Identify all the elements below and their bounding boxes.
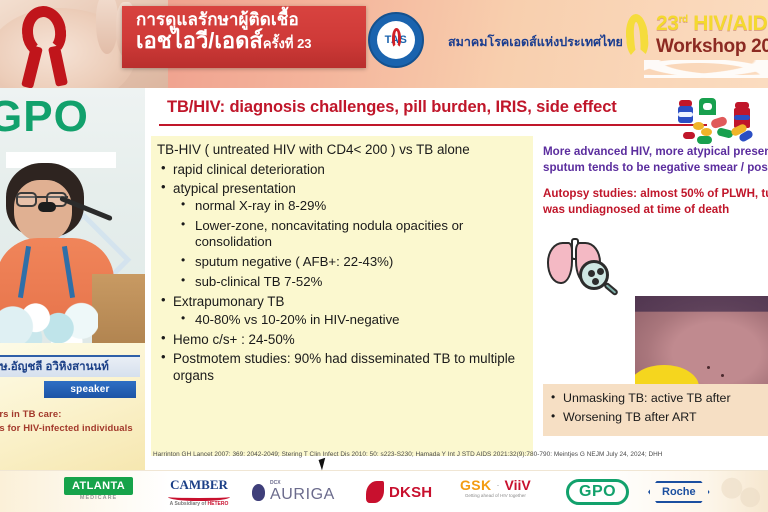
viiv-name: ViiV — [505, 477, 531, 493]
sponsor-logo-atlanta: ATLANTA MEDICARE — [64, 477, 133, 507]
workshop-logo: 23rd HIV/AIDS Workshop 202 — [616, 4, 768, 80]
conference-header-banner: การดูแลรักษาผู้ติดเชื้อ เอชไอวี/เอดส์ครั… — [0, 0, 768, 88]
dksh-mark-icon — [366, 481, 384, 503]
sub-bullet-item: 40-80% vs 10-20% in HIV-negative — [173, 312, 525, 329]
association-name: สมาคมโรคเอดส์แห่งประเทศไทย — [448, 32, 623, 52]
auriga-mark-icon — [252, 484, 265, 501]
thai-title-edition: ครั้งที่ 23 — [263, 36, 312, 51]
bullet-text: Extrapumonary TB — [173, 293, 525, 310]
sub-bullet-item: sputum negative ( AFB+: 22-43%) — [173, 254, 525, 271]
sponsor-logo-gpo: GPO — [566, 477, 629, 507]
bullet-text: Postmotem studies: 90% had disseminated … — [173, 350, 525, 385]
gsk-name: GSK — [460, 477, 492, 493]
thai-title-line2: เอชไอวี/เอดส์ครั้งที่ 23 — [122, 29, 366, 54]
yellow-ribbon-icon — [624, 13, 649, 58]
citation-references: Harrinton GH Lancet 2007: 369: 2042-2049… — [153, 451, 768, 458]
camber-name: CAMBER — [170, 477, 228, 493]
slide-screenshot: การดูแลรักษาผู้ติดเชื้อ เอชไอวี/เอดส์ครั… — [0, 0, 768, 512]
speaker-role-label: speaker — [70, 384, 109, 395]
speaker-panel: GPO ษ.อัญชลี อวิหิงสานนท์ speaker ers in — [0, 88, 145, 470]
sponsor-logo-dksh: DKSH — [366, 477, 432, 507]
bullet-item: atypical presentationnormal X-ray in 8-2… — [157, 180, 525, 291]
speaker-name: ษ.อัญชลี อวิหิงสานนท์ — [0, 358, 109, 376]
speaker-caption-area: ษ.อัญชลี อวิหิงสานนท์ speaker ers in TB … — [0, 343, 145, 470]
flower-arrangement — [0, 298, 98, 348]
camber-sub: A Subsidiary of HETERO — [170, 501, 229, 507]
title-underline — [159, 124, 707, 126]
bullet-item: Extrapumonary TB40-80% vs 10-20% in HIV-… — [157, 293, 525, 328]
presentation-slide: TB/HIV: diagnosis challenges, pill burde… — [145, 88, 768, 470]
workshop-title-line1: 23rd HIV/AIDS — [656, 12, 768, 36]
iris-box: Unmasking TB: active TB afterWorsening T… — [543, 384, 768, 436]
bullet-item: Hemo c/s+ : 24-50% — [157, 331, 525, 348]
camber-swoosh — [168, 493, 230, 501]
clinical-photo — [635, 296, 768, 391]
bullet-text: atypical presentation — [173, 180, 525, 197]
speaker-caption-line2: es for HIV-infected individuals — [0, 423, 133, 434]
magnifier-handle — [603, 282, 619, 297]
sub-bullet-item: Lower-zone, noncavitating nodula opaciti… — [173, 218, 525, 251]
atlanta-sub: MEDICARE — [80, 495, 117, 501]
thai-title-line1: การดูแลรักษาผู้ติดเชื้อ — [122, 6, 366, 29]
bullet-list-level1: rapid clinical deteriorationatypical pre… — [157, 161, 525, 384]
gpo-backdrop-logo: GPO — [0, 92, 108, 156]
footer-watermark — [718, 473, 764, 511]
note-advanced-hiv: More advanced HIV, more atypical presen … — [543, 144, 768, 176]
podium — [92, 274, 145, 348]
sub-bullet-item: sub-clinical TB 7-52% — [173, 274, 525, 291]
bullet-list-level2: normal X-ray in 8-29%Lower-zone, noncavi… — [173, 198, 525, 290]
iris-bullet-item: Worsening TB after ART — [549, 408, 768, 427]
speaker-caption-line1: ers in TB care: — [0, 409, 62, 420]
atlanta-name: ATLANTA — [64, 477, 133, 495]
pills-illustration — [673, 96, 768, 144]
workshop-title-line2: Workshop 202 — [656, 36, 768, 58]
tas-logo: TAS — [368, 12, 424, 68]
sponsor-logo-camber: CAMBER A Subsidiary of HETERO — [168, 477, 230, 507]
roche-name: Roche — [648, 481, 710, 503]
gpo-name: GPO — [566, 479, 629, 505]
sponsor-footer: ATLANTA MEDICARE CAMBER A Subsidiary of … — [0, 470, 768, 512]
bullet-text: rapid clinical deterioration — [173, 161, 525, 178]
note-autopsy-studies: Autopsy studies: almost 50% of PLWH, tu … — [543, 186, 768, 218]
main-content-box: TB-HIV ( untreated HIV with CD4< 200 ) v… — [151, 136, 533, 456]
lungs-magnifier-illustration — [545, 238, 635, 302]
content-lead: TB-HIV ( untreated HIV with CD4< 200 ) v… — [157, 142, 525, 158]
gsk-tagline: Getting ahead of HIV together — [465, 493, 526, 498]
tas-ribbon-icon — [392, 28, 401, 48]
sponsor-logo-auriga: DCX AURIGA — [252, 477, 335, 507]
sponsor-logo-roche: Roche — [648, 477, 710, 507]
iris-bullet-list: Unmasking TB: active TB afterWorsening T… — [549, 389, 768, 427]
bullet-item: rapid clinical deterioration — [157, 161, 525, 178]
auriga-name: AURIGA — [270, 486, 335, 504]
iris-bullet-item: Unmasking TB: active TB after — [549, 389, 768, 408]
thai-conference-title: การดูแลรักษาผู้ติดเชื้อ เอชไอวี/เอดส์ครั… — [122, 6, 366, 68]
sub-bullet-item: normal X-ray in 8-29% — [173, 198, 525, 215]
speaker-role-badge: speaker — [44, 381, 136, 398]
bullet-item: Postmotem studies: 90% had disseminated … — [157, 350, 525, 385]
slide-title: TB/HIV: diagnosis challenges, pill burde… — [167, 98, 707, 117]
dksh-name: DKSH — [389, 484, 432, 501]
bullet-list-level2: 40-80% vs 10-20% in HIV-negative — [173, 312, 525, 329]
lung-left-icon — [547, 242, 573, 284]
speaker-name-bar: ษ.อัญชลี อวิหิงสานนท์ — [0, 355, 140, 377]
bullet-text: Hemo c/s+ : 24-50% — [173, 331, 525, 348]
speaker-video: GPO — [0, 88, 145, 348]
sponsor-logo-gsk-viiv: GSK · ViiV Getting ahead of HIV together — [460, 477, 531, 507]
wave-decoration — [644, 60, 768, 78]
microphone-icon — [38, 202, 56, 212]
